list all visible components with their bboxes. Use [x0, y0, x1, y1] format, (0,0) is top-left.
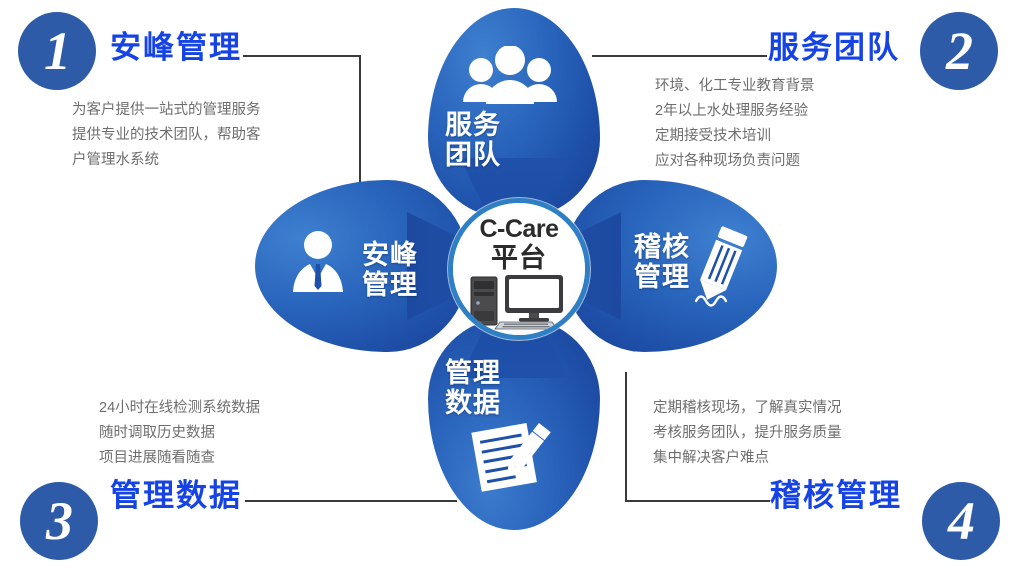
section-body-1: 为客户提供一站式的管理服务 提供专业的技术团队，帮助客 户管理水系统	[72, 98, 261, 173]
body-line: 户管理水系统	[72, 148, 261, 173]
section-number-3: 3	[20, 482, 98, 560]
petal-label-line-2: 管理	[617, 262, 707, 292]
section-body-2: 环境、化工专业教育背景 2年以上水处理服务经验 定期接受技术培训 应对各种现场负…	[655, 74, 815, 174]
body-line: 集中解决客户难点	[653, 446, 842, 471]
petal-label-service-team: 服务 团队	[428, 110, 518, 170]
petal-label-line-2: 管理	[345, 270, 435, 300]
petal-label-line-1: 管理	[428, 358, 518, 388]
body-line: 项目进展随看随查	[99, 446, 260, 471]
section-body-3: 24小时在线检测系统数据 随时调取历史数据 项目进展随看随查	[99, 396, 260, 471]
center-hub[interactable]: C-Care 平台	[448, 198, 590, 340]
body-line: 24小时在线检测系统数据	[99, 396, 260, 421]
center-title: C-Care	[480, 217, 559, 242]
petal-label-management-data: 管理 数据	[428, 358, 518, 418]
petal-label-line-2: 团队	[428, 140, 518, 170]
petal-label-line-1: 安峰	[345, 240, 435, 270]
infographic-canvas: 服务 团队 稽核 管理 管理 数据 安峰 管理 C-Care 平台	[0, 0, 1010, 572]
business-person-icon	[287, 228, 349, 299]
section-number-4: 4	[922, 482, 1000, 560]
body-line: 随时调取历史数据	[99, 421, 260, 446]
body-line: 环境、化工专业教育背景	[655, 74, 815, 99]
people-group-icon	[455, 46, 565, 111]
center-subtitle: 平台	[491, 244, 547, 272]
section-number-1: 1	[18, 12, 96, 90]
section-heading-4: 稽核管理	[770, 470, 902, 515]
petal-label-anfeng-management: 安峰 管理	[345, 240, 435, 300]
center-hub-inner: C-Care 平台	[453, 203, 585, 335]
clipboard-pencil-icon	[470, 420, 554, 497]
petal-label-audit-management: 稽核 管理	[617, 232, 707, 292]
body-line: 定期接受技术培训	[655, 124, 815, 149]
body-line: 2年以上水处理服务经验	[655, 99, 815, 124]
desktop-computer-icon	[467, 273, 571, 335]
petal-label-line-2: 数据	[428, 388, 518, 418]
petal-label-line-1: 稽核	[617, 232, 707, 262]
petal-label-line-1: 服务	[428, 110, 518, 140]
section-number-2: 2	[920, 12, 998, 90]
section-heading-2: 服务团队	[768, 22, 900, 67]
body-line: 提供专业的技术团队，帮助客	[72, 123, 261, 148]
body-line: 考核服务团队，提升服务质量	[653, 421, 842, 446]
section-heading-1: 安峰管理	[110, 22, 242, 67]
section-body-4: 定期稽核现场，了解真实情况 考核服务团队，提升服务质量 集中解决客户难点	[653, 396, 842, 471]
body-line: 为客户提供一站式的管理服务	[72, 98, 261, 123]
body-line: 应对各种现场负责问题	[655, 149, 815, 174]
body-line: 定期稽核现场，了解真实情况	[653, 396, 842, 421]
section-heading-3: 管理数据	[110, 470, 242, 515]
